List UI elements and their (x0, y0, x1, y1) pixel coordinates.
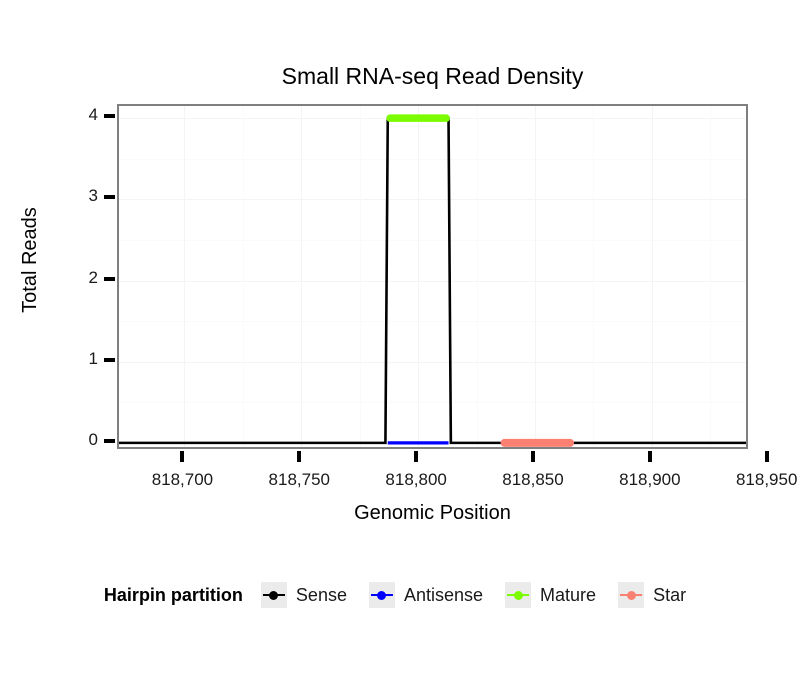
x-tick-label: 818,800 (356, 470, 476, 490)
legend-key-point (627, 591, 636, 600)
chart-title: Small RNA-seq Read Density (117, 62, 748, 90)
y-tick-label: 0 (58, 431, 98, 448)
x-tick-mark (648, 451, 652, 462)
y-axis-title: Total Reads (18, 190, 42, 330)
x-tick-label: 818,900 (590, 470, 710, 490)
chart-container: Small RNA-seq Read Density Total Reads 0… (0, 0, 810, 690)
legend-key-icon (503, 580, 533, 610)
y-tick-mark (104, 195, 115, 199)
legend-key-point (377, 591, 386, 600)
x-tick-mark (414, 451, 418, 462)
legend-entry-mature[interactable]: Mature (503, 580, 610, 610)
x-tick-label: 818,950 (707, 470, 810, 490)
legend-entry-antisense[interactable]: Antisense (367, 580, 497, 610)
x-tick-mark (180, 451, 184, 462)
legend-key-icon (367, 580, 397, 610)
x-tick-mark (531, 451, 535, 462)
x-tick-label: 818,750 (239, 470, 359, 490)
y-tick-label: 2 (58, 269, 98, 286)
y-tick-mark (104, 277, 115, 281)
y-tick-label: 4 (58, 106, 98, 123)
legend-entries: SenseAntisenseMatureStar (259, 580, 706, 610)
plot-panel (117, 104, 748, 449)
y-tick-mark (104, 114, 115, 118)
legend: Hairpin partition SenseAntisenseMatureSt… (0, 580, 810, 610)
y-tick-label: 3 (58, 187, 98, 204)
legend-key-icon (259, 580, 289, 610)
y-tick-label: 1 (58, 350, 98, 367)
x-tick-mark (765, 451, 769, 462)
legend-key-point (514, 591, 523, 600)
legend-label: Sense (296, 585, 347, 605)
legend-entry-sense[interactable]: Sense (259, 580, 361, 610)
legend-key-point (269, 591, 278, 600)
legend-label: Mature (540, 585, 596, 605)
x-tick-mark (297, 451, 301, 462)
x-axis-title: Genomic Position (117, 501, 748, 525)
legend-label: Star (653, 585, 686, 605)
x-tick-label: 818,850 (473, 470, 593, 490)
legend-entry-star[interactable]: Star (616, 580, 700, 610)
plot-area (119, 106, 746, 447)
legend-title: Hairpin partition (104, 585, 243, 606)
legend-key-icon (616, 580, 646, 610)
series-line-sense (119, 118, 746, 443)
y-tick-mark (104, 358, 115, 362)
x-tick-label: 818,700 (122, 470, 242, 490)
data-series-layer (119, 106, 746, 447)
y-tick-mark (104, 439, 115, 443)
legend-label: Antisense (404, 585, 483, 605)
